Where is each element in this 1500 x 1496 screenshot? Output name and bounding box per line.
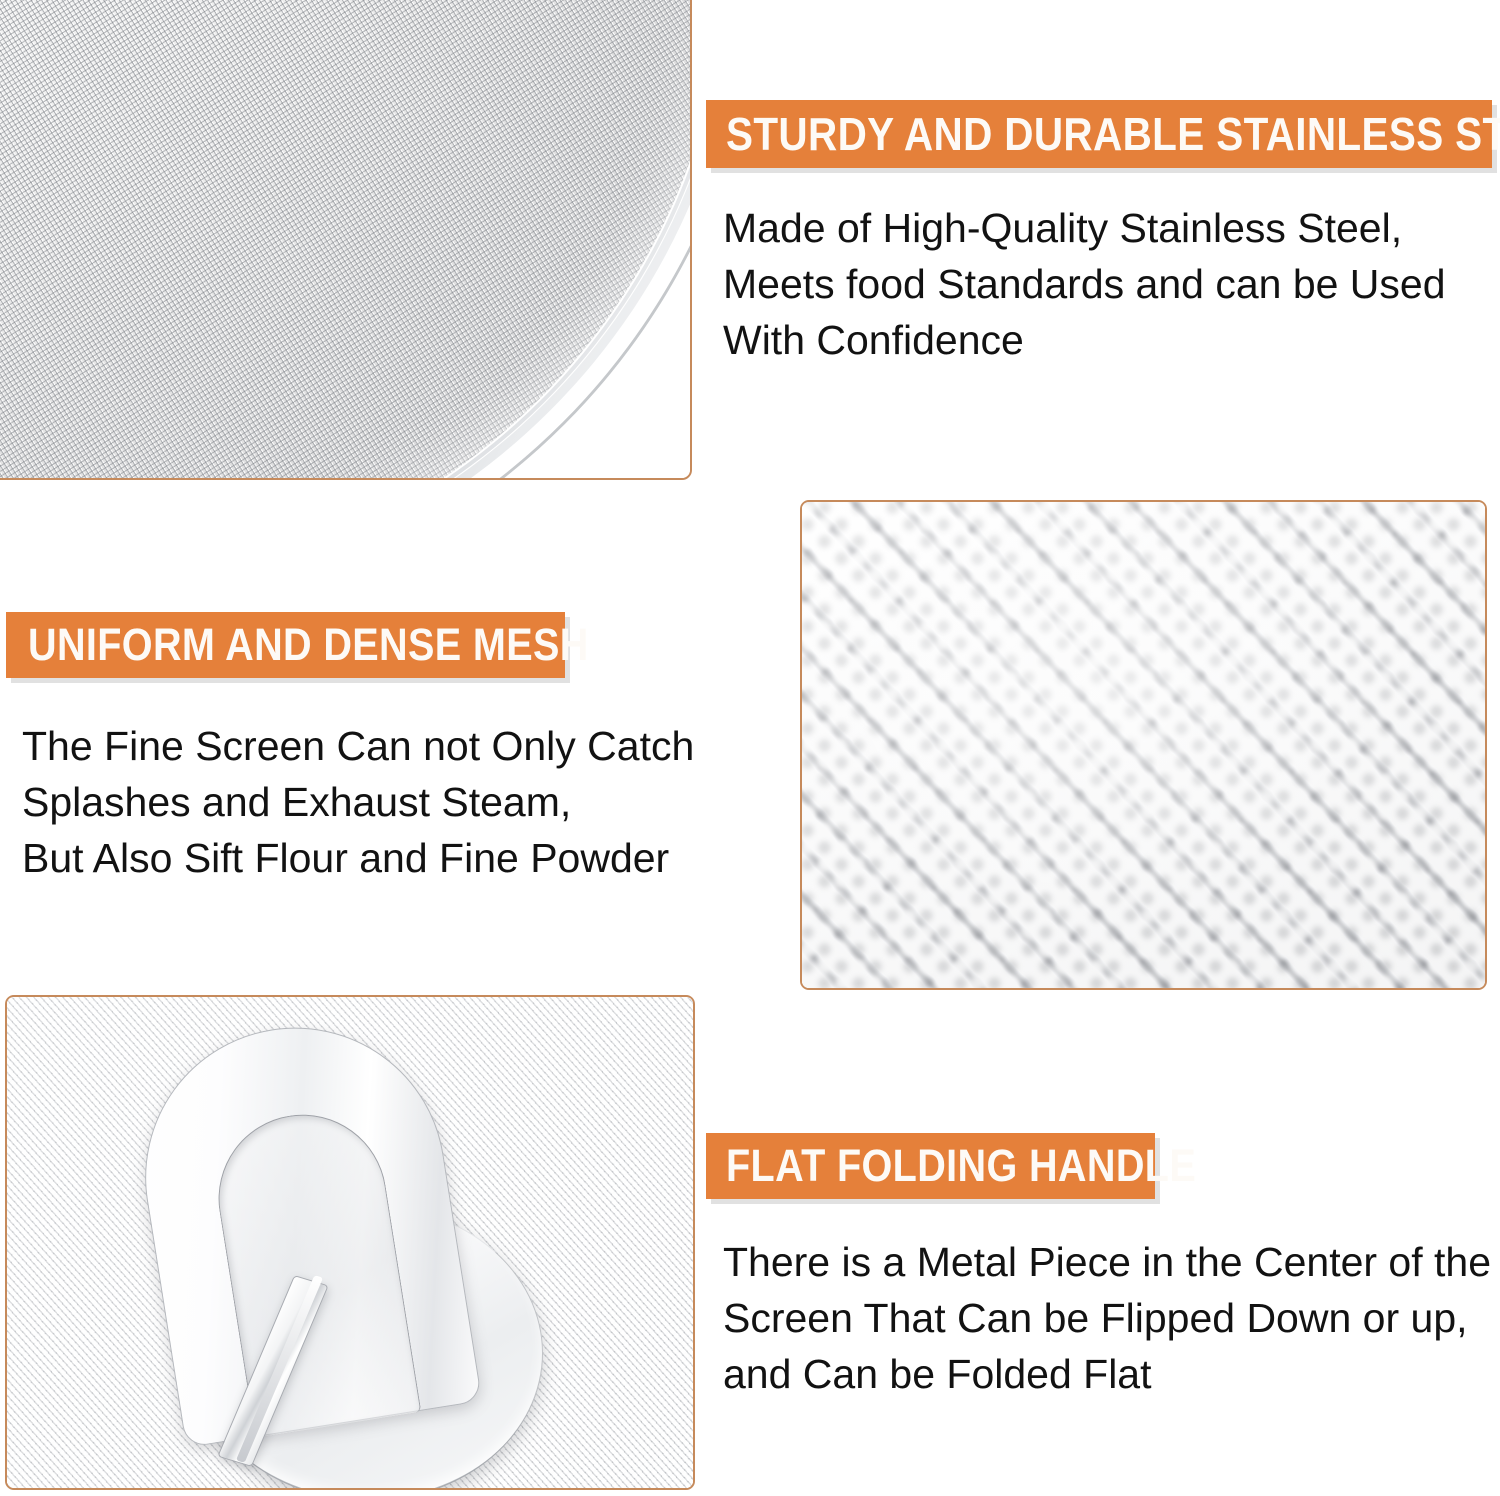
photo-panel-screen-edge (0, 0, 692, 480)
heading-bar-sturdy: STURDY AND DURABLE STAINLESS STEEL (706, 100, 1492, 168)
heading-bar-mesh: UNIFORM AND DENSE MESH (6, 612, 565, 678)
u-shaped-handle (124, 1006, 483, 1448)
mesh-macro-photo (802, 502, 1485, 988)
heading-label-sturdy: STURDY AND DURABLE STAINLESS STEEL (726, 107, 1500, 161)
photo-panel-mesh-macro (800, 500, 1487, 990)
heading-label-mesh: UNIFORM AND DENSE MESH (28, 619, 589, 671)
screen-edge-photo (0, 0, 690, 478)
folding-handle-photo (7, 997, 693, 1488)
product-feature-infographic: { "theme": { "accent_orange": "#E5803A",… (0, 0, 1500, 1496)
body-text-sturdy: Made of High-Quality Stainless Steel, Me… (723, 200, 1483, 368)
lighting-overlay (802, 502, 1485, 988)
heading-label-handle: FLAT FOLDING HANDLE (726, 1140, 1196, 1192)
polished-rim-inner (0, 0, 692, 480)
photo-panel-folding-handle (5, 995, 695, 1490)
body-text-handle: There is a Metal Piece in the Center of … (723, 1234, 1493, 1402)
heading-bar-handle: FLAT FOLDING HANDLE (706, 1133, 1155, 1199)
body-text-mesh: The Fine Screen Can not Only Catch Splas… (22, 718, 712, 886)
